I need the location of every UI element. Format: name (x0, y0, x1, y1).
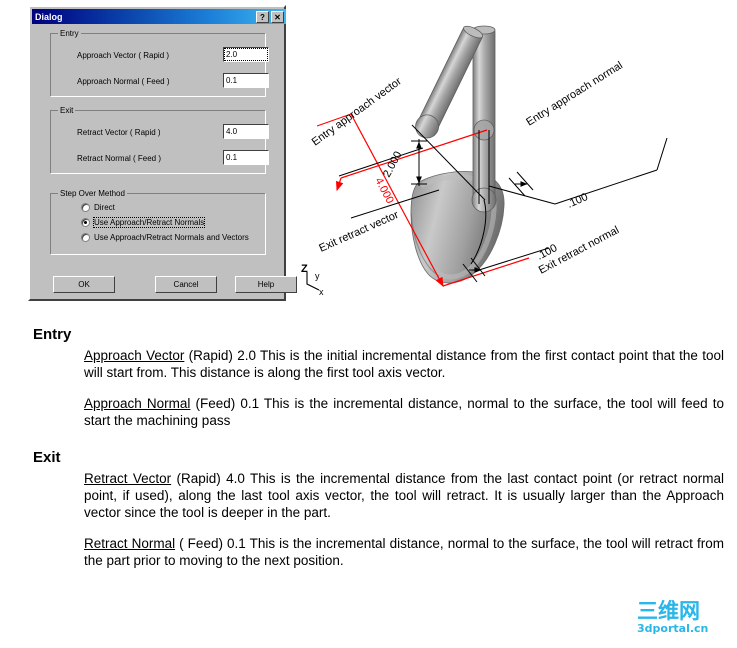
term-approach-vector: Approach Vector (84, 348, 184, 363)
toolpath-figure: 4.000 2.000 .100 Entry approach normal .… (293, 8, 733, 318)
close-title-button[interactable]: ✕ (271, 11, 284, 23)
tool-vertical (472, 26, 496, 212)
label-entry-approach-normal: Entry approach normal (524, 59, 625, 128)
dim-vertical-2000: 2.000 (381, 149, 405, 179)
exit-group-label: Exit (58, 106, 75, 115)
watermark-cjk-text: 三维网 (637, 600, 737, 622)
term-retract-vector: Retract Vector (84, 471, 171, 486)
radio-direct-indicator (81, 203, 90, 212)
step-over-dialog: Dialog ? ✕ Entry Approach Vector ( Rapid… (28, 5, 286, 301)
site-watermark: 三维网 3dportal.cn (637, 600, 737, 644)
label-entry-approach-vector: Entry approach vector (310, 75, 404, 148)
axis-label-x: x (319, 287, 324, 297)
radio-direct-label: Direct (94, 203, 115, 212)
radio-use-approach-retract-normals-and-vectors[interactable]: Use Approach/Retract Normals and Vectors (81, 233, 249, 242)
retract-normal-label: Retract Normal ( Feed ) (77, 154, 161, 163)
retract-vector-input[interactable]: 4.0 (223, 124, 269, 139)
dim-approach-normal-100: .100 (565, 191, 589, 211)
axis-label-y: y (315, 271, 320, 281)
retract-normal-input[interactable]: 0.1 (223, 150, 269, 165)
cancel-button[interactable]: Cancel (155, 276, 217, 293)
exit-paragraph-retract-vector: Retract Vector (Rapid) 4.0 This is the i… (84, 470, 724, 521)
dialog-titlebar[interactable]: Dialog ? ✕ (32, 9, 286, 24)
exit-paragraph-retract-normal-text: ( Feed) 0.1 This is the incremental dist… (84, 536, 724, 568)
approach-normal-input[interactable]: 0.1 (223, 73, 269, 88)
radio-use-approach-retract-normals[interactable]: Use Approach/Retract Normals (81, 218, 204, 227)
document-body: Entry Approach Vector (Rapid) 2.0 This i… (0, 326, 737, 569)
watermark-url-text: 3dportal.cn (637, 622, 737, 635)
term-retract-normal: Retract Normal (84, 536, 175, 551)
radio-use-approach-retract-normals-label: Use Approach/Retract Normals (94, 218, 204, 227)
radio-use-approach-retract-normals-and-vectors-indicator (81, 233, 90, 242)
exit-paragraph-retract-vector-text: (Rapid) 4.0 This is the incremental dist… (84, 471, 724, 520)
radio-use-approach-retract-normals-and-vectors-label: Use Approach/Retract Normals and Vectors (94, 233, 249, 242)
step-over-method-group: Step Over Method Direct Use Approach/Ret… (50, 193, 266, 255)
approach-normal-label: Approach Normal ( Feed ) (77, 77, 169, 86)
entry-paragraph-approach-normal: Approach Normal (Feed) 0.1 This is the i… (84, 395, 724, 429)
exit-heading: Exit (33, 449, 737, 466)
step-over-method-label: Step Over Method (58, 189, 127, 198)
term-approach-normal: Approach Normal (84, 396, 190, 411)
dialog-title: Dialog (32, 12, 63, 22)
help-title-button[interactable]: ? (256, 11, 269, 23)
ok-button[interactable]: OK (53, 276, 115, 293)
entry-group: Entry Approach Vector ( Rapid ) 2.0 Appr… (50, 33, 266, 97)
help-button[interactable]: Help (235, 276, 297, 293)
approach-vector-input[interactable]: 2.0 (223, 47, 269, 62)
axis-label-z: Z (301, 263, 308, 275)
titlebar-button-group: ? ✕ (256, 11, 286, 23)
radio-direct[interactable]: Direct (81, 203, 115, 212)
entry-group-label: Entry (58, 29, 81, 38)
exit-paragraph-retract-normal: Retract Normal ( Feed) 0.1 This is the i… (84, 535, 724, 569)
entry-paragraph-approach-vector: Approach Vector (Rapid) 2.0 This is the … (84, 347, 724, 381)
approach-vector-label: Approach Vector ( Rapid ) (77, 51, 169, 60)
radio-use-approach-retract-normals-indicator (81, 218, 90, 227)
retract-vector-label: Retract Vector ( Rapid ) (77, 128, 161, 137)
exit-group: Exit Retract Vector ( Rapid ) 4.0 Retrac… (50, 110, 266, 174)
entry-heading: Entry (33, 326, 737, 343)
